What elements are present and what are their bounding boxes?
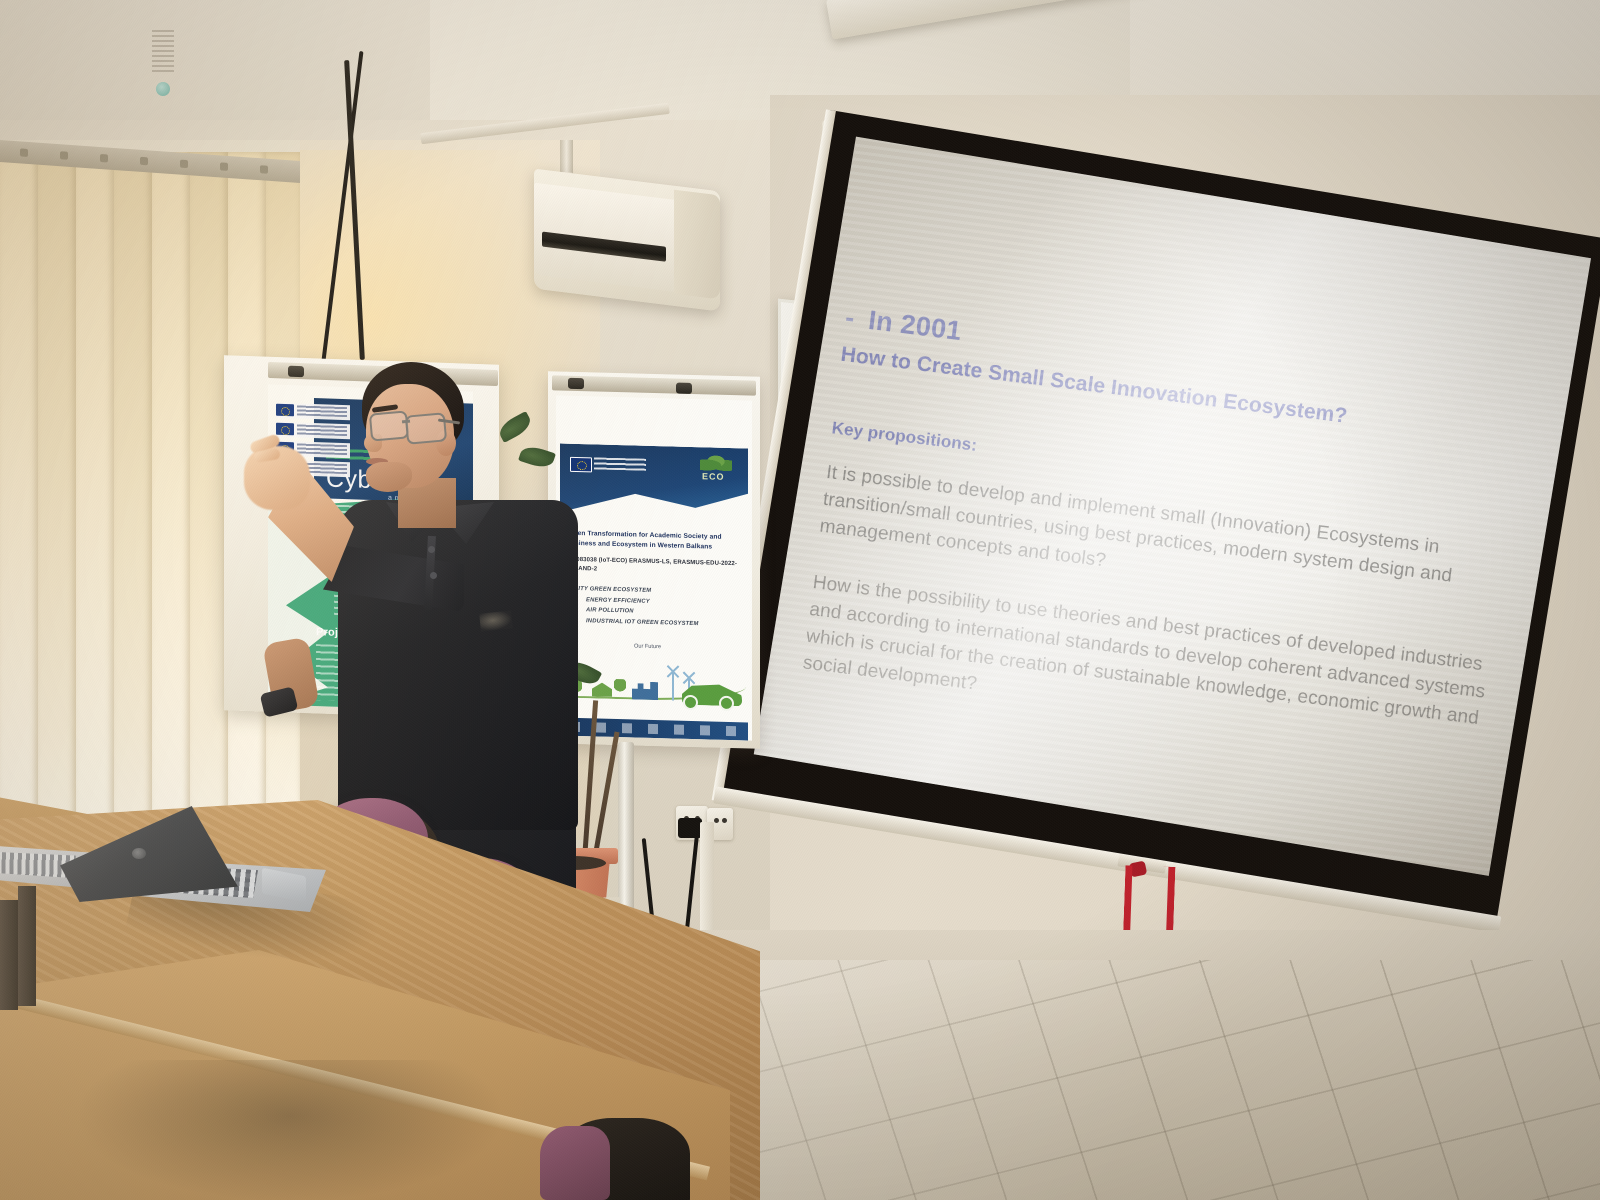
table-leg	[18, 886, 36, 1006]
ac-brand-logo	[152, 30, 174, 72]
photo-scene: -In 2001 How to Create Small Scale Innov…	[0, 0, 1600, 1200]
air-conditioner	[534, 169, 720, 312]
power-plug[interactable]	[678, 818, 702, 838]
laptop-lid-logo	[132, 848, 146, 859]
slide-bullet-dash: -	[844, 302, 857, 333]
eyeglasses-icon	[405, 412, 447, 444]
screen-surface: -In 2001 How to Create Small Scale Innov…	[754, 137, 1591, 876]
chair-foreground-backrest[interactable]	[540, 1126, 610, 1200]
eco-logo: ECO	[694, 455, 738, 484]
ac-badge-icon	[156, 82, 170, 96]
shirt-chest-logo	[479, 610, 513, 631]
spotlight-stem	[560, 140, 573, 176]
leaf-icon	[700, 455, 732, 472]
slide-heading-text: In 2001	[867, 305, 964, 346]
projected-slide: -In 2001 How to Create Small Scale Innov…	[790, 302, 1532, 853]
presenter-shirt	[338, 500, 578, 830]
eyeglasses-icon	[369, 410, 409, 441]
table-leg	[0, 900, 18, 1010]
